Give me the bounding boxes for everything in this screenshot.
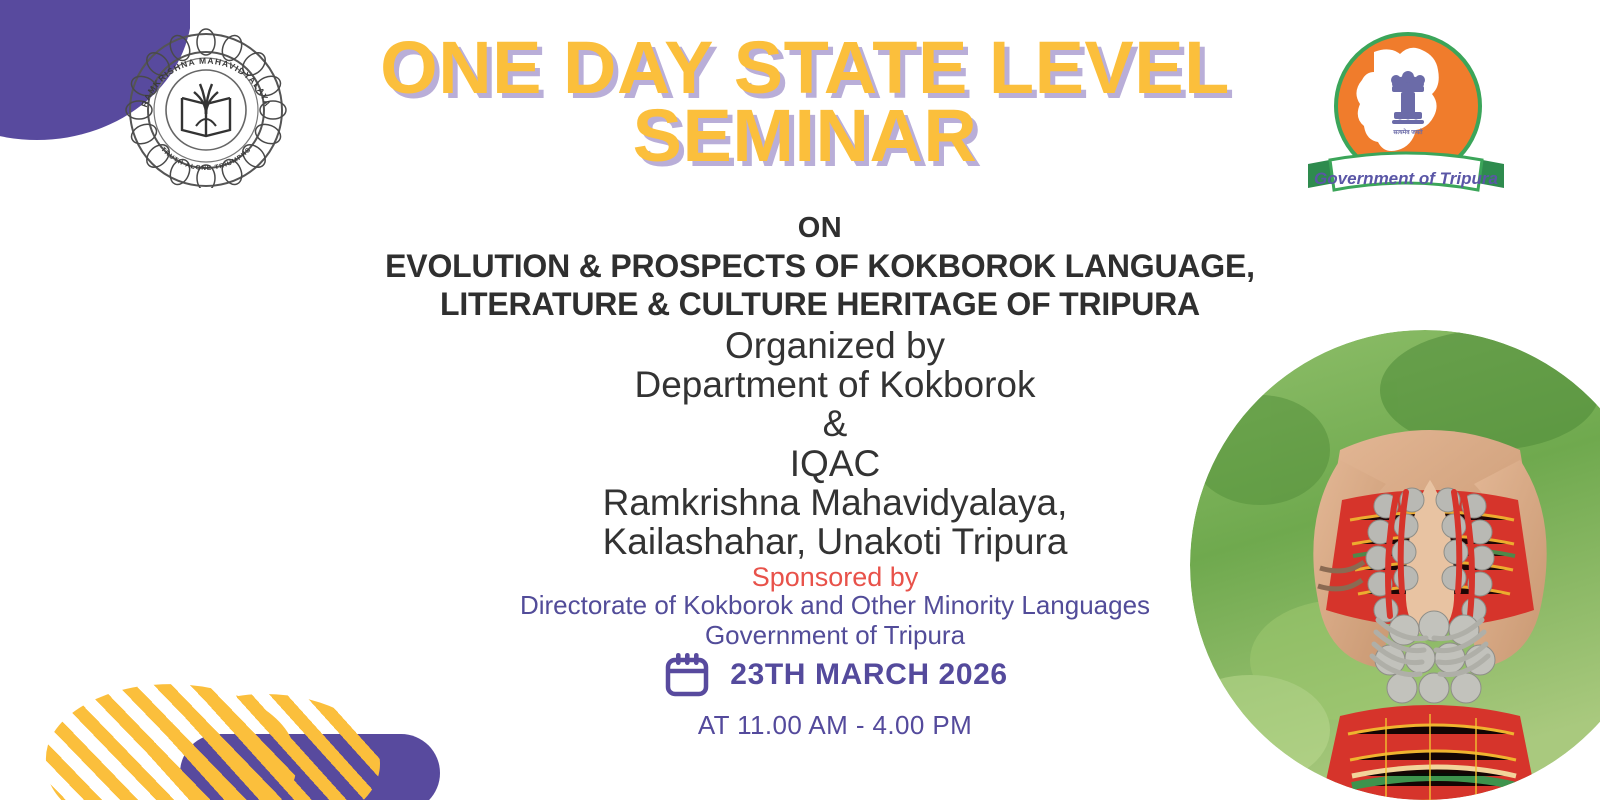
ramkrishna-mahavidyalaya-logo: RAMKRISHNA MAHAVIDYALAYA TRUTH ALONE TRI… <box>122 26 290 188</box>
event-date: 23TH MARCH 2026 <box>730 658 1007 692</box>
page-title: ONE DAY STATE LEVEL SEMINAR <box>300 34 1310 170</box>
topic-line-1: EVOLUTION & PROSPECTS OF KOKBOROK LANGUA… <box>200 248 1440 286</box>
organizer-location: Kailashahar, Unakoti Tripura <box>330 522 1340 561</box>
title-line-1: ONE DAY STATE LEVEL <box>300 34 1310 102</box>
government-of-tripura-logo: सत्यमेव जयते Government of Tripura <box>1296 24 1506 210</box>
date-row: 23TH MARCH 2026 <box>330 650 1340 700</box>
organizer-ampersand: & <box>330 404 1340 443</box>
sponsored-by-heading: Sponsored by <box>330 562 1340 593</box>
organized-by-heading: Organized by <box>330 326 1340 365</box>
event-time: AT 11.00 AM - 4.00 PM <box>330 710 1340 741</box>
on-label: ON <box>240 212 1400 245</box>
topic-line-2: LITERATURE & CULTURE HERITAGE OF TRIPURA <box>200 286 1440 324</box>
svg-text:सत्यमेव जयते: सत्यमेव जयते <box>1392 128 1423 136</box>
title-line-2: SEMINAR <box>300 102 1310 170</box>
organizer-iqac: IQAC <box>330 444 1340 483</box>
sponsor-directorate: Directorate of Kokborok and Other Minori… <box>250 590 1420 620</box>
organizer-department: Department of Kokborok <box>330 365 1340 404</box>
sponsor-block: Directorate of Kokborok and Other Minori… <box>250 590 1420 650</box>
seminar-topic: EVOLUTION & PROSPECTS OF KOKBOROK LANGUA… <box>200 248 1440 324</box>
organizer-block: Organized by Department of Kokborok & IQ… <box>330 326 1340 561</box>
svg-text:Government of Tripura: Government of Tripura <box>1314 169 1498 188</box>
sponsor-government: Government of Tripura <box>250 620 1420 650</box>
organizer-institution: Ramkrishna Mahavidyalaya, <box>330 483 1340 522</box>
seminar-poster: RAMKRISHNA MAHAVIDYALAYA TRUTH ALONE TRI… <box>0 0 1600 800</box>
calendar-icon <box>662 650 712 700</box>
